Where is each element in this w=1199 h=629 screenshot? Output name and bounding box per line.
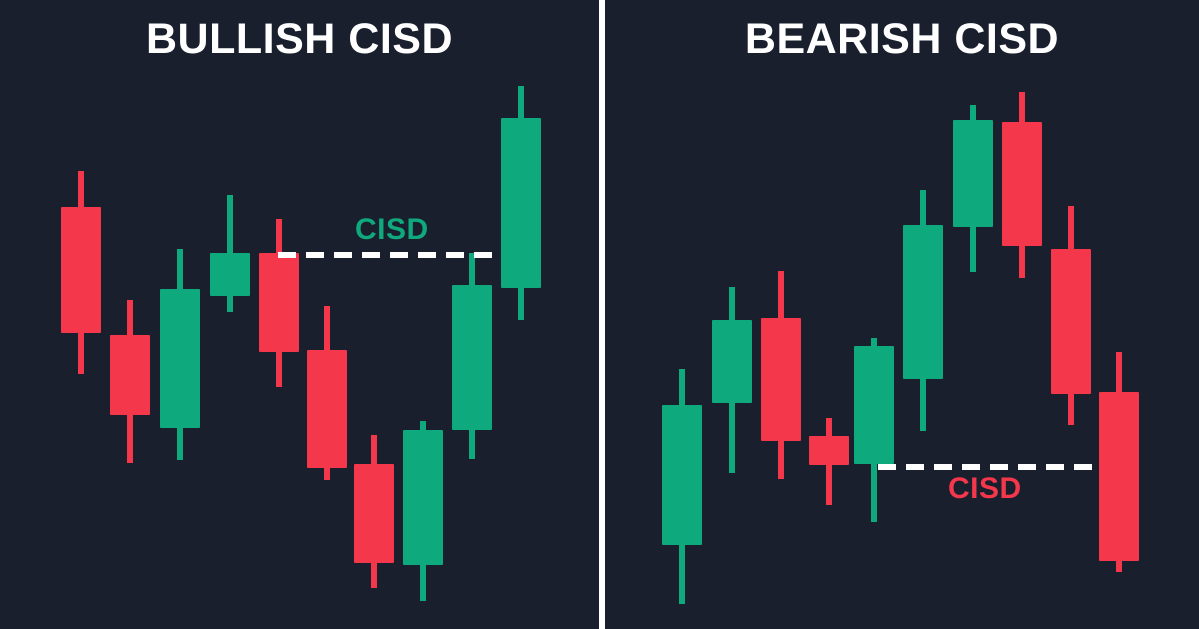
bullish-cisd-panel: BULLISH CISD CISD <box>0 0 599 629</box>
cisd-annotation-label: CISD <box>948 474 1022 504</box>
candle-body <box>354 464 394 563</box>
candle-body <box>452 285 492 430</box>
cisd-dashed-line <box>878 464 1101 470</box>
cisd-infographic: BULLISH CISD CISD BEARISH CISD CISD <box>0 0 1199 629</box>
candle-body <box>403 430 443 565</box>
candle-body <box>110 335 150 415</box>
candle-body <box>501 118 541 288</box>
candle-body <box>307 350 347 468</box>
bearish-cisd-panel: BEARISH CISD CISD <box>605 0 1199 629</box>
candle-body <box>1099 392 1139 561</box>
cisd-dashed-line <box>278 252 500 258</box>
candle-body <box>259 253 299 352</box>
cisd-annotation-label: CISD <box>355 215 429 245</box>
candle-body <box>761 318 801 441</box>
candle-body <box>160 289 200 428</box>
candle-body <box>662 405 702 545</box>
bullish-candlestick-chart: CISD <box>0 0 599 629</box>
candle-body <box>1051 249 1091 394</box>
candle-body <box>903 225 943 379</box>
candle-body <box>1002 122 1042 246</box>
candle-body <box>61 207 101 333</box>
candle-body <box>210 253 250 296</box>
candle-body <box>712 320 752 403</box>
candle-body <box>953 120 993 227</box>
candle-body <box>854 346 894 464</box>
bearish-candlestick-chart: CISD <box>605 0 1199 629</box>
candle-body <box>809 436 849 465</box>
